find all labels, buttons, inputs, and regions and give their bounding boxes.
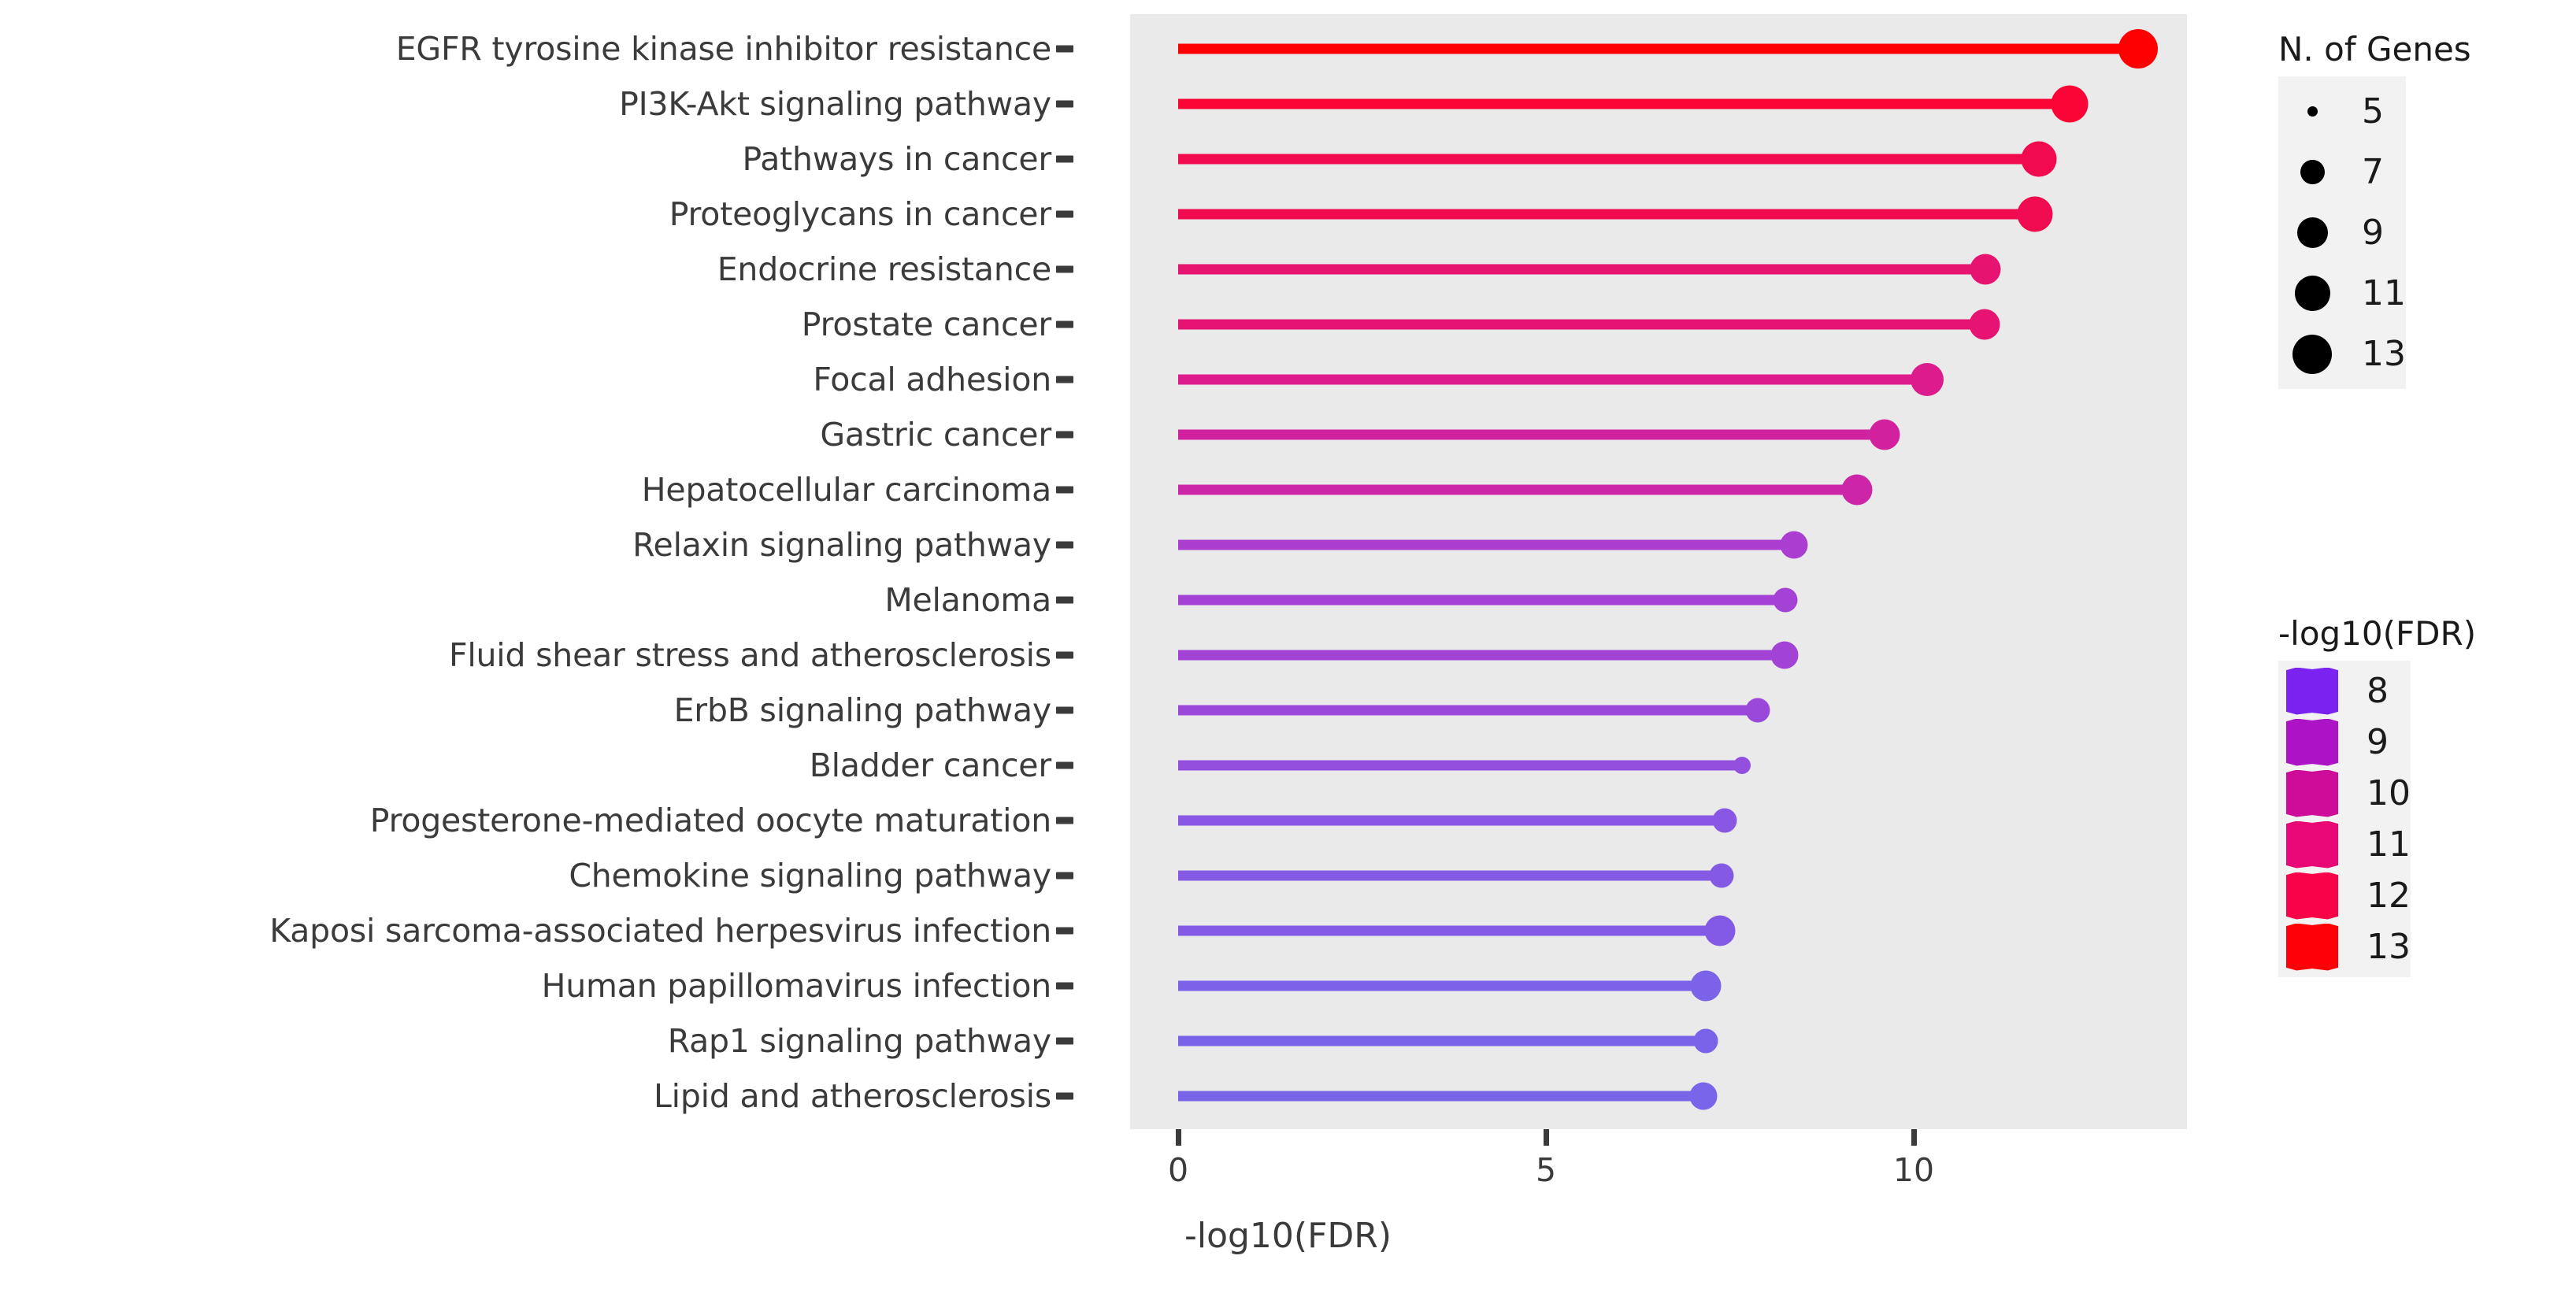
color-legend-label: 8: [2367, 674, 2389, 709]
color-legend-swatch-icon: [2286, 719, 2338, 766]
lollipop-stem: [1178, 320, 1985, 330]
y-axis-tick-mark: [1056, 156, 1073, 163]
lollipop-dot[interactable]: [2052, 86, 2089, 123]
y-axis-tick-mark: [1056, 101, 1073, 108]
color-legend-row: 11: [2278, 819, 2411, 870]
y-axis-tick-label: Rap1 signaling pathway: [668, 1022, 1051, 1060]
y-axis-tick-label: Gastric cancer: [820, 416, 1051, 454]
size-legend-dot-cell: [2278, 335, 2346, 374]
y-axis-tick-label: Hepatocellular carcinoma: [642, 471, 1051, 509]
lollipop-dot[interactable]: [2021, 142, 2056, 177]
plot-area: [1130, 14, 2187, 1129]
lollipop-dot[interactable]: [1745, 698, 1770, 723]
color-legend-swatch-icon: [2286, 872, 2338, 920]
lollipop-stem: [1178, 265, 1985, 275]
lollipop-stem: [1178, 430, 1885, 440]
x-axis-tick-mark: [1544, 1129, 1549, 1146]
size-legend-dot-cell: [2278, 160, 2346, 184]
y-axis-tick-mark: [1056, 928, 1073, 935]
lollipop-stem: [1178, 44, 2138, 54]
y-axis-labels: EGFR tyrosine kinase inhibitor resistanc…: [0, 0, 1105, 1289]
y-axis-tick-label: Chemokine signaling pathway: [569, 857, 1051, 895]
size-legend-row: 13: [2278, 324, 2406, 384]
y-axis-tick-mark: [1056, 487, 1073, 494]
size-legend-dot-cell: [2278, 276, 2346, 311]
color-legend-swatch-cell: [2278, 719, 2346, 766]
lollipop-dot[interactable]: [1869, 420, 1900, 450]
color-legend-label: 13: [2367, 930, 2411, 965]
lollipop-dot[interactable]: [1710, 864, 1734, 888]
y-axis-tick-label: Pathways in cancer: [743, 140, 1051, 178]
color-legend-items: 8910111213: [2278, 661, 2411, 977]
size-legend-label: 13: [2362, 337, 2406, 372]
color-legend-label: 12: [2367, 879, 2411, 913]
size-legend-title: N. of Genes: [2278, 30, 2471, 69]
color-legend-swatch-cell: [2278, 924, 2346, 971]
color-legend-row: 8: [2278, 665, 2411, 717]
color-legend-label: 9: [2367, 725, 2389, 760]
y-axis-tick-label: Focal adhesion: [813, 361, 1051, 398]
lollipop-stem: [1178, 816, 1725, 826]
x-axis-tick-label: 0: [1168, 1151, 1188, 1189]
color-legend-row: 9: [2278, 717, 2411, 768]
lollipop-dot[interactable]: [1690, 971, 1721, 1002]
lollipop-dot[interactable]: [1773, 588, 1797, 613]
y-axis-tick-mark: [1056, 266, 1073, 273]
lollipop-stem: [1178, 209, 2035, 220]
lollipop-stem: [1178, 871, 1722, 881]
x-axis-tick-label: 5: [1536, 1151, 1556, 1189]
y-axis-tick-label: EGFR tyrosine kinase inhibitor resistanc…: [396, 30, 1051, 68]
lollipop-dot[interactable]: [2118, 29, 2158, 69]
color-legend-row: 10: [2278, 768, 2411, 819]
lollipop-dot[interactable]: [1780, 532, 1807, 559]
lollipop-stem: [1178, 761, 1742, 771]
y-axis-tick-label: Lipid and atherosclerosis: [654, 1077, 1051, 1115]
lollipop-stem: [1178, 981, 1706, 991]
color-legend-swatch-cell: [2278, 668, 2346, 715]
lollipop-dot[interactable]: [1911, 363, 1944, 396]
color-legend-swatch-cell: [2278, 821, 2346, 869]
color-legend-swatch-icon: [2286, 924, 2338, 971]
lollipop-dot[interactable]: [1693, 1029, 1718, 1054]
y-axis-tick-label: Fluid shear stress and atherosclerosis: [449, 636, 1051, 674]
size-legend-dot-icon: [2295, 276, 2330, 311]
lollipop-stem: [1178, 1091, 1703, 1102]
size-legend-row: 5: [2278, 81, 2406, 142]
lollipop-dot[interactable]: [1712, 809, 1736, 833]
color-legend-swatch-icon: [2286, 668, 2338, 715]
x-axis-title: -log10(FDR): [0, 1216, 2576, 1256]
color-legend: -log10(FDR) 8910111213: [2278, 614, 2476, 977]
lollipop-stem: [1178, 375, 1927, 385]
lollipop-stem: [1178, 485, 1857, 495]
y-axis-tick-mark: [1056, 432, 1073, 439]
size-legend-row: 7: [2278, 142, 2406, 202]
color-legend-swatch-icon: [2286, 770, 2338, 817]
size-legend-dot-cell: [2278, 217, 2346, 248]
color-legend-label: 10: [2367, 776, 2411, 811]
lollipop-stem: [1178, 706, 1758, 716]
lollipop-stem: [1178, 650, 1785, 661]
y-axis-tick-label: Melanoma: [884, 581, 1051, 619]
x-axis-tick-label: 10: [1893, 1151, 1934, 1189]
size-legend-items: 5791113: [2278, 76, 2406, 389]
y-axis-tick-label: Proteoglycans in cancer: [669, 195, 1051, 233]
lollipop-chart-figure: EGFR tyrosine kinase inhibitor resistanc…: [0, 0, 2576, 1289]
color-legend-row: 12: [2278, 870, 2411, 921]
y-axis-tick-mark: [1056, 652, 1073, 659]
size-legend-dot-cell: [2278, 106, 2346, 117]
lollipop-stem: [1178, 154, 2039, 165]
size-legend-dot-icon: [2297, 217, 2328, 248]
y-axis-tick-mark: [1056, 211, 1073, 218]
y-axis-tick-label: ErbB signaling pathway: [674, 691, 1051, 729]
y-axis-tick-label: Relaxin signaling pathway: [632, 526, 1051, 564]
lollipop-dot[interactable]: [1970, 254, 2000, 285]
y-axis-tick-mark: [1056, 376, 1073, 383]
color-legend-label: 11: [2367, 828, 2411, 862]
y-axis-tick-mark: [1056, 707, 1073, 714]
color-legend-title: -log10(FDR): [2278, 614, 2476, 653]
y-axis-tick-label: Prostate cancer: [802, 306, 1051, 343]
size-legend-row: 11: [2278, 263, 2406, 324]
y-axis-tick-mark: [1056, 762, 1073, 769]
size-legend-label: 7: [2362, 155, 2384, 190]
lollipop-dot[interactable]: [1733, 757, 1751, 774]
size-legend-label: 11: [2362, 276, 2406, 311]
color-legend-swatch-cell: [2278, 770, 2346, 817]
y-axis-tick-label: Progesterone-mediated oocyte maturation: [370, 802, 1051, 839]
size-legend-dot-icon: [2292, 335, 2332, 374]
size-legend-label: 5: [2362, 94, 2384, 129]
y-axis-tick-label: Bladder cancer: [810, 746, 1051, 784]
y-axis-tick-mark: [1056, 46, 1073, 53]
size-legend-dot-icon: [2307, 106, 2318, 117]
y-axis-tick-label: Endocrine resistance: [717, 250, 1051, 288]
y-axis-tick-mark: [1056, 1093, 1073, 1100]
size-legend-label: 9: [2362, 216, 2384, 250]
color-legend-swatch-cell: [2278, 872, 2346, 920]
lollipop-dot[interactable]: [1705, 916, 1736, 946]
y-axis-tick-label: Kaposi sarcoma-associated herpesvirus in…: [269, 912, 1051, 950]
size-legend-row: 9: [2278, 202, 2406, 263]
y-axis-tick-mark: [1056, 817, 1073, 824]
lollipop-dot[interactable]: [2018, 197, 2053, 232]
lollipop-stem: [1178, 540, 1794, 550]
x-axis-tick-mark: [1911, 1129, 1917, 1146]
y-axis-tick-mark: [1056, 597, 1073, 604]
lollipop-stem: [1178, 926, 1720, 936]
lollipop-stem: [1178, 595, 1785, 606]
lollipop-dot[interactable]: [1969, 309, 2000, 340]
x-axis-tick-mark: [1176, 1129, 1181, 1146]
color-legend-swatch-icon: [2286, 821, 2338, 869]
lollipop-stem: [1178, 99, 2070, 109]
y-axis-tick-label: PI3K-Akt signaling pathway: [619, 85, 1051, 123]
y-axis-tick-label: Human papillomavirus infection: [542, 967, 1051, 1005]
lollipop-stem: [1178, 1036, 1706, 1046]
y-axis-tick-mark: [1056, 1038, 1073, 1045]
y-axis-tick-mark: [1056, 872, 1073, 880]
size-legend: N. of Genes 5791113: [2278, 30, 2471, 389]
size-legend-dot-icon: [2300, 160, 2325, 184]
lollipop-dot[interactable]: [1689, 1083, 1717, 1110]
y-axis-tick-mark: [1056, 321, 1073, 328]
lollipop-dot[interactable]: [1770, 642, 1798, 669]
color-legend-row: 13: [2278, 921, 2411, 972]
y-axis-tick-mark: [1056, 983, 1073, 990]
y-axis-tick-mark: [1056, 542, 1073, 549]
lollipop-dot[interactable]: [1842, 475, 1873, 506]
